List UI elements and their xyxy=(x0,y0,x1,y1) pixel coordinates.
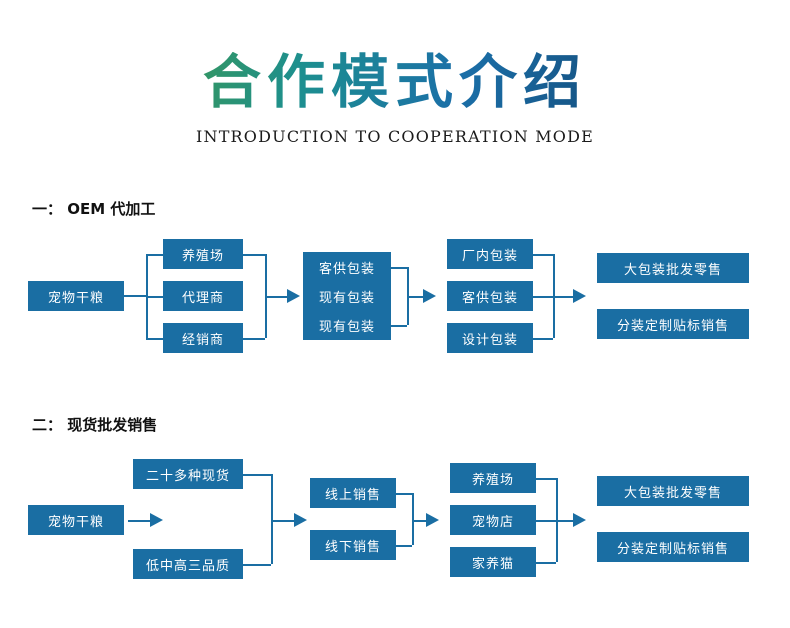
connector-line xyxy=(391,267,407,269)
connector-line xyxy=(556,520,573,522)
connector-line xyxy=(271,474,273,564)
diagram-box[interactable]: 厂内包装 xyxy=(447,239,533,269)
diagram-box[interactable]: 养殖场 xyxy=(450,463,536,493)
diagram-box[interactable]: 分装定制贴标销售 xyxy=(597,532,749,562)
diagram-box[interactable]: 现有包装 xyxy=(303,281,391,311)
connector-line xyxy=(533,254,553,256)
diagram-box[interactable]: 代理商 xyxy=(163,281,243,311)
arrow-icon xyxy=(423,289,436,303)
connector-line xyxy=(124,295,146,297)
diagram-box[interactable]: 宠物店 xyxy=(450,505,536,535)
connector-line xyxy=(146,338,163,340)
diagram-box[interactable]: 宠物干粮 xyxy=(28,281,124,311)
connector-line xyxy=(536,478,556,480)
connector-line xyxy=(407,296,423,298)
diagram-box[interactable]: 养殖场 xyxy=(163,239,243,269)
diagram-box[interactable]: 经销商 xyxy=(163,323,243,353)
diagram-box[interactable]: 设计包装 xyxy=(447,323,533,353)
diagram-box[interactable]: 线下销售 xyxy=(310,530,396,560)
connector-line xyxy=(265,296,287,298)
connector-line xyxy=(553,296,573,298)
connector-line xyxy=(396,493,412,495)
connector-line xyxy=(412,520,426,522)
page-title: 合作模式介绍 xyxy=(0,52,790,113)
connector-line xyxy=(271,520,294,522)
diagram-box[interactable]: 低中高三品质 xyxy=(133,549,243,579)
connector-line xyxy=(146,296,163,298)
connector-line xyxy=(243,254,265,256)
diagram-box[interactable]: 宠物干粮 xyxy=(28,505,124,535)
connector-line xyxy=(243,564,271,566)
diagram-box[interactable]: 大包装批发零售 xyxy=(597,476,749,506)
connector-line xyxy=(536,520,556,522)
diagram-box[interactable]: 客供包装 xyxy=(447,281,533,311)
page-subtitle: INTRODUCTION TO COOPERATION MODE xyxy=(0,127,790,146)
page-header: 合作模式介绍 INTRODUCTION TO COOPERATION MODE xyxy=(0,52,790,146)
arrow-icon xyxy=(573,289,586,303)
arrow-icon xyxy=(287,289,300,303)
diagram-box[interactable]: 大包装批发零售 xyxy=(597,253,749,283)
connector-line xyxy=(533,338,553,340)
diagram-box[interactable]: 客供包装 xyxy=(303,252,391,282)
arrow-icon xyxy=(573,513,586,527)
arrow-icon xyxy=(150,513,163,527)
diagram-box[interactable]: 家养猫 xyxy=(450,547,536,577)
connector-line xyxy=(243,338,265,340)
diagram-box[interactable]: 现有包装 xyxy=(303,310,391,340)
connector-line xyxy=(146,254,163,256)
connector-line xyxy=(533,296,553,298)
section-heading-1: 一： OEM 代加工 xyxy=(32,198,155,219)
connector-line xyxy=(396,545,412,547)
connector-line xyxy=(391,325,407,327)
diagram-box[interactable]: 分装定制贴标销售 xyxy=(597,309,749,339)
diagram-box[interactable]: 线上销售 xyxy=(310,478,396,508)
arrow-icon xyxy=(294,513,307,527)
connector-line xyxy=(243,474,271,476)
connector-line xyxy=(536,562,556,564)
section-heading-2: 二： 现货批发销售 xyxy=(32,414,157,435)
connector-line xyxy=(412,493,414,545)
arrow-icon xyxy=(426,513,439,527)
diagram-box[interactable]: 二十多种现货 xyxy=(133,459,243,489)
connector-line xyxy=(128,520,150,522)
